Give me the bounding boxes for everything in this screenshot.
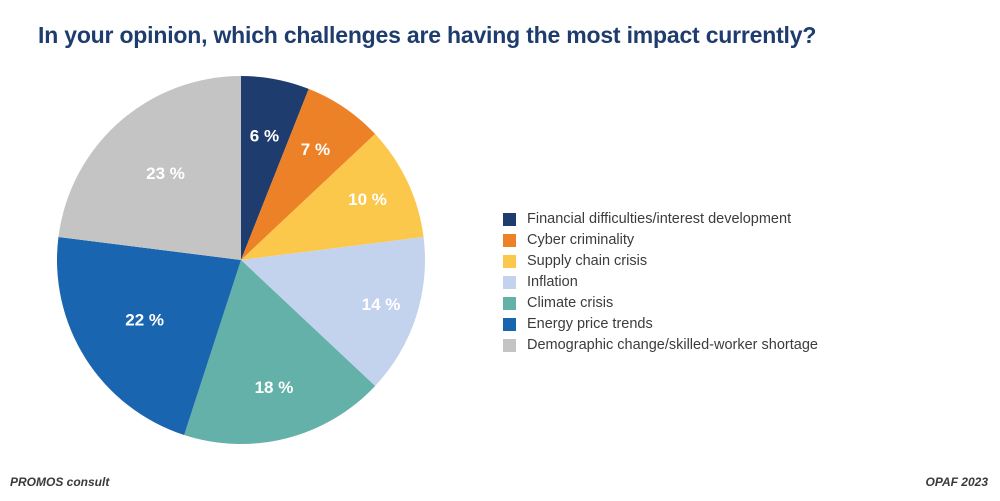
pie-chart: 6 %7 %10 %14 %18 %22 %23 % — [57, 76, 425, 444]
legend-item[interactable]: Cyber criminality — [503, 230, 903, 251]
legend-item-label: Inflation — [527, 275, 578, 290]
pie-slice-label: 23 % — [146, 164, 185, 183]
pie-slice-label: 6 % — [250, 127, 279, 146]
legend-swatch-icon — [503, 234, 516, 247]
page-title: In your opinion, which challenges are ha… — [38, 22, 816, 49]
legend-swatch-icon — [503, 318, 516, 331]
pie-slice-label: 14 % — [362, 295, 401, 314]
legend-swatch-icon — [503, 339, 516, 352]
legend-item[interactable]: Inflation — [503, 272, 903, 293]
pie-slice-label: 22 % — [125, 311, 164, 330]
footer-left-text: PROMOS consult — [10, 475, 109, 489]
pie-slice-group — [57, 76, 425, 444]
legend-swatch-icon — [503, 297, 516, 310]
legend-item[interactable]: Climate crisis — [503, 293, 903, 314]
legend-item[interactable]: Energy price trends — [503, 314, 903, 335]
pie-slice-label: 10 % — [348, 190, 387, 209]
legend-item-label: Cyber criminality — [527, 233, 634, 248]
legend-item[interactable]: Demographic change/skilled-worker shorta… — [503, 335, 903, 356]
legend-item[interactable]: Financial difficulties/interest developm… — [503, 209, 903, 230]
pie-chart-svg: 6 %7 %10 %14 %18 %22 %23 % — [57, 76, 425, 444]
footer-right-text: OPAF 2023 — [926, 475, 988, 489]
legend-item-label: Energy price trends — [527, 317, 653, 332]
pie-slice-label: 7 % — [301, 140, 330, 159]
legend-item[interactable]: Supply chain crisis — [503, 251, 903, 272]
legend-item-label: Supply chain crisis — [527, 254, 647, 269]
pie-slice-label: 18 % — [255, 378, 294, 397]
legend-item-label: Financial difficulties/interest developm… — [527, 212, 791, 227]
legend-item-label: Demographic change/skilled-worker shorta… — [527, 338, 818, 353]
legend: Financial difficulties/interest developm… — [503, 209, 903, 356]
legend-swatch-icon — [503, 255, 516, 268]
legend-swatch-icon — [503, 276, 516, 289]
legend-swatch-icon — [503, 213, 516, 226]
legend-item-label: Climate crisis — [527, 296, 613, 311]
